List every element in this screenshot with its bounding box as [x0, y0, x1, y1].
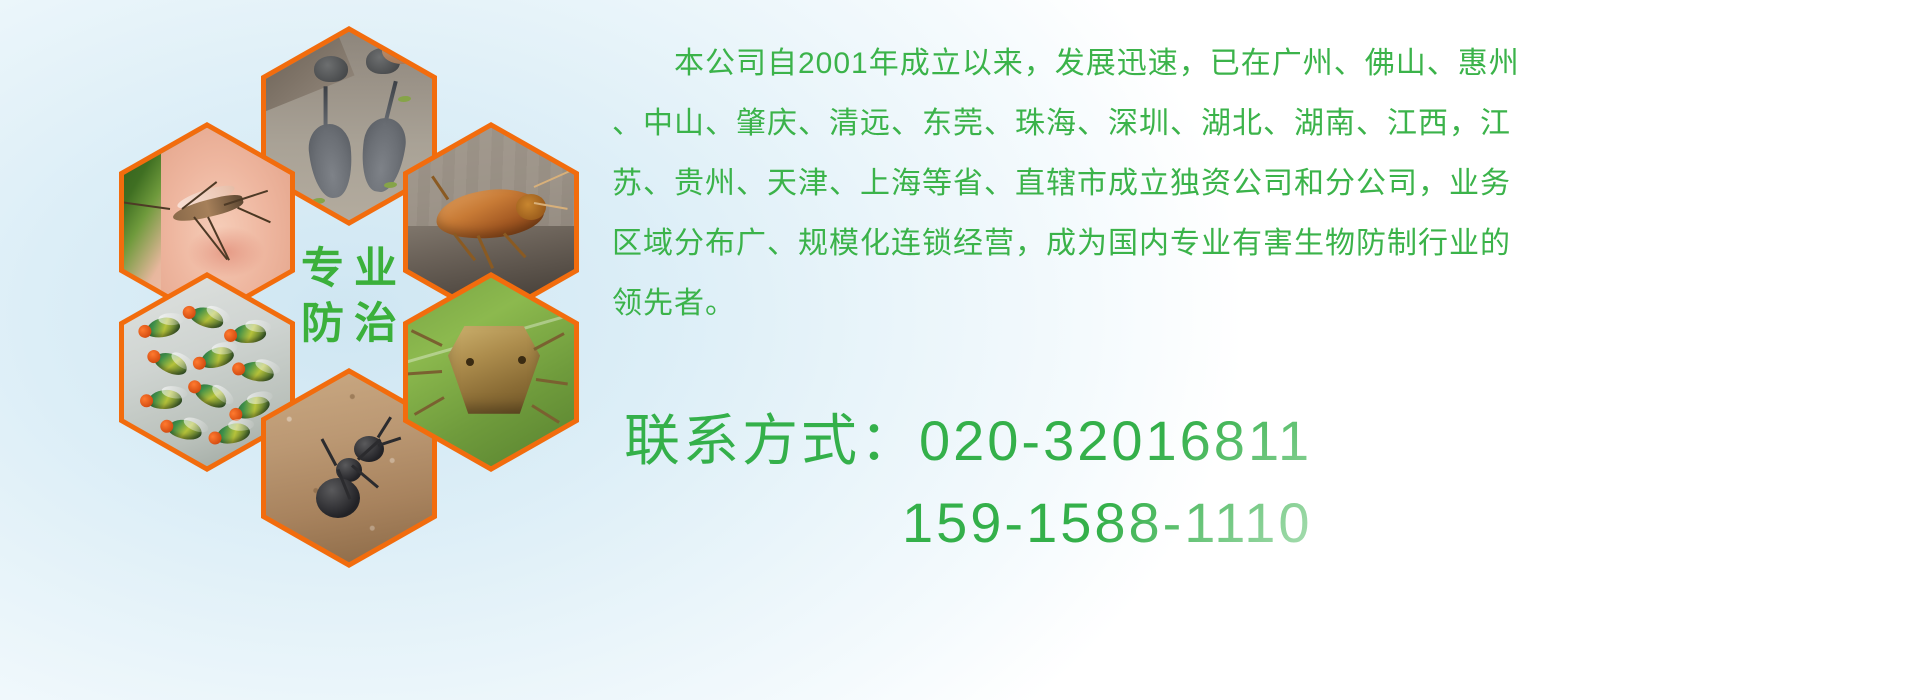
- contact-label: 联系方式：: [624, 409, 919, 472]
- company-description: 本公司自2001年成立以来，发展迅速，已在广州、佛山、惠州 、中山、肇庆、清远、…: [612, 34, 1908, 334]
- copy-line-1: 本公司自2001年成立以来，发展迅速，已在广州、佛山、惠州: [612, 34, 1908, 94]
- copy-line-2: 、中山、肇庆、清远、东莞、珠海、深圳、湖北、湖南、江西，江: [612, 94, 1908, 154]
- phone-secondary[interactable]: 159-1588-1110: [624, 482, 1904, 564]
- copy-line-5: 领先者。: [612, 274, 1908, 334]
- promo-banner: 专业 防治 本公司自2001年成立以来，发展迅速，已在广州、佛山、惠州 、中山、…: [0, 0, 1920, 700]
- copy-line-3: 苏、贵州、天津、上海等省、直辖市成立独资公司和分公司，业务: [612, 154, 1908, 214]
- phone-primary[interactable]: 020-32016811: [919, 409, 1312, 472]
- hex-photo-cluster: 专业 防治: [95, 8, 595, 568]
- center-label-line2: 防治: [291, 303, 407, 346]
- center-label-line1: 专业: [291, 248, 407, 291]
- copy-line-4: 区域分布广、规模化连锁经营，成为国内专业有害生物防制行业的: [612, 214, 1908, 274]
- contact-primary-line: 联系方式：020-32016811: [624, 400, 1904, 482]
- contact-info: 联系方式：020-32016811 159-1588-1110: [624, 400, 1904, 564]
